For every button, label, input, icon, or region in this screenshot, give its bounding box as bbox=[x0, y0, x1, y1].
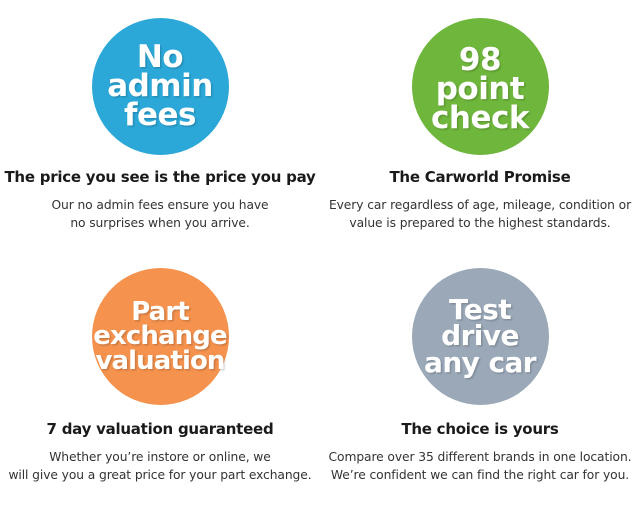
feature-card-part-exchange-valuation: Part exchange valuation 7 day valuation … bbox=[0, 256, 320, 512]
feature-body: Compare over 35 different brands in one … bbox=[321, 448, 639, 484]
feature-headline: 7 day valuation guaranteed bbox=[0, 421, 320, 438]
badge-label: Part exchange valuation bbox=[93, 300, 226, 373]
feature-body: Every car regardless of age, mileage, co… bbox=[321, 196, 639, 232]
badge-label: 98 point check bbox=[431, 46, 529, 133]
feature-headline: The price you see is the price you pay bbox=[0, 169, 320, 186]
feature-headline: The choice is yours bbox=[320, 421, 640, 438]
feature-card-98-point-check: 98 point check The Carworld Promise Ever… bbox=[320, 0, 640, 256]
badge-no-admin-fees: No admin fees bbox=[92, 18, 229, 155]
feature-grid: No admin fees The price you see is the p… bbox=[0, 0, 640, 512]
badge-part-exchange-valuation: Part exchange valuation bbox=[92, 268, 229, 405]
badge-test-drive-any-car: Test drive any car bbox=[412, 268, 549, 405]
feature-body: Our no admin fees ensure you have no sur… bbox=[1, 196, 319, 232]
feature-body: Whether you’re instore or online, we wil… bbox=[1, 448, 319, 484]
feature-headline: The Carworld Promise bbox=[320, 169, 640, 186]
feature-card-test-drive-any-car: Test drive any car The choice is yours C… bbox=[320, 256, 640, 512]
badge-label: Test drive any car bbox=[424, 297, 536, 376]
badge-label: No admin fees bbox=[107, 43, 213, 130]
badge-98-point-check: 98 point check bbox=[412, 18, 549, 155]
feature-card-no-admin-fees: No admin fees The price you see is the p… bbox=[0, 0, 320, 256]
